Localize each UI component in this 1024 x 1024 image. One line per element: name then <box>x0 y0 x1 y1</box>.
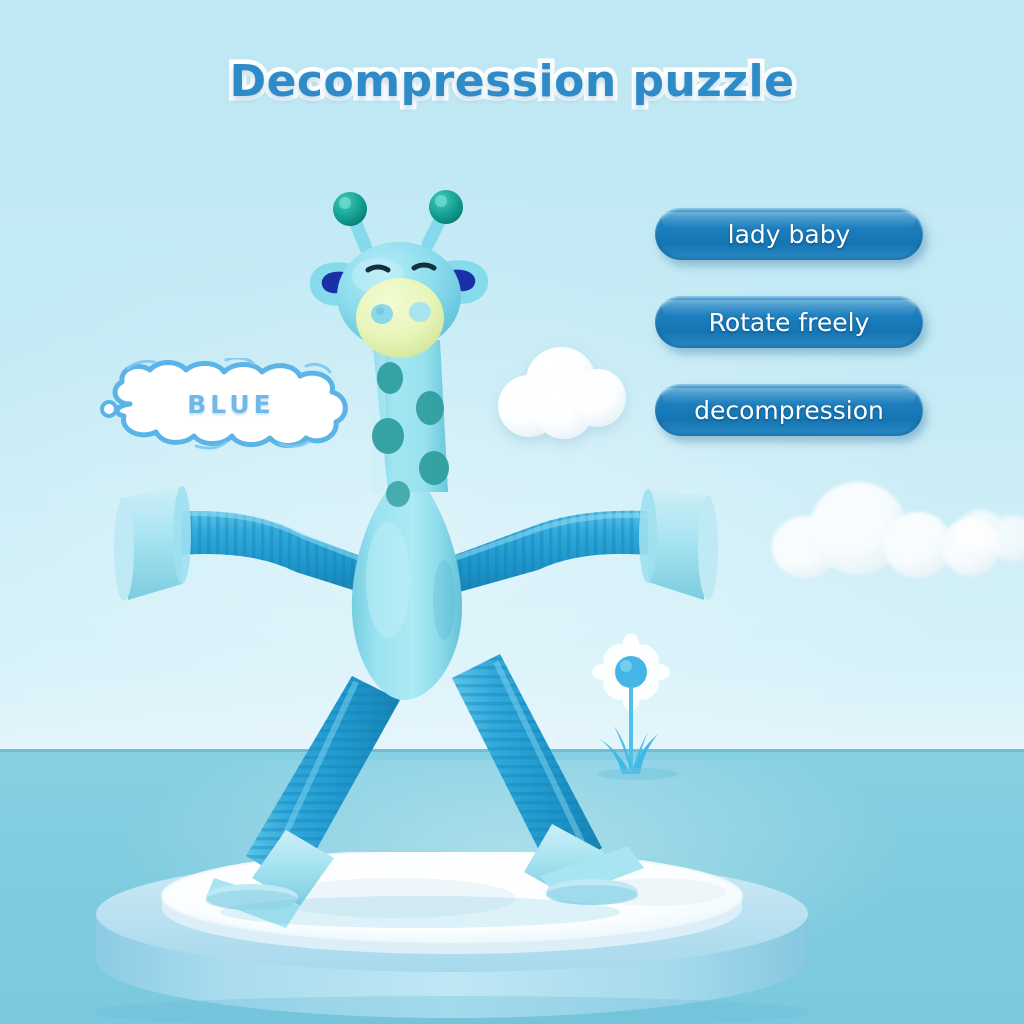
pop-tube-left-leg <box>206 676 400 928</box>
giraffe-neck <box>372 340 449 507</box>
pop-tube-left-arm <box>114 486 372 601</box>
giraffe-pop-tube-toy[interactable] <box>0 0 1024 1024</box>
giraffe-horns <box>333 190 463 248</box>
pop-tube-right-leg <box>452 654 644 905</box>
giraffe-muzzle <box>356 278 444 358</box>
giraffe-head <box>310 190 488 358</box>
pop-tube-right-arm <box>452 489 718 600</box>
giraffe-body <box>352 470 462 700</box>
product-promo-image: Decompression puzzle BLUE lady ba <box>0 0 1024 1024</box>
